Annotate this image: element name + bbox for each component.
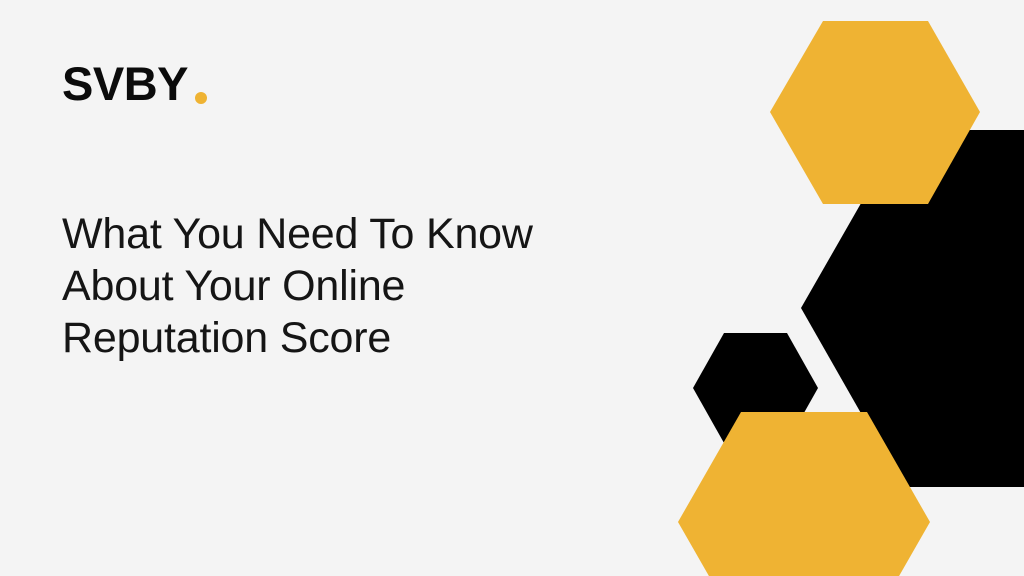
brand-wordmark: SVBY bbox=[62, 60, 188, 107]
brand-logo[interactable]: SVBY bbox=[62, 60, 207, 107]
hexagon-top-amber-icon bbox=[770, 21, 980, 204]
hexagon-small-black-icon bbox=[693, 333, 818, 443]
page-title-line-2: About Your Online bbox=[62, 260, 682, 312]
hexagon-bottom-amber-icon bbox=[678, 412, 930, 576]
brand-dot-icon bbox=[195, 92, 207, 104]
page-title: What You Need To Know About Your Online … bbox=[62, 208, 682, 364]
hexagon-large-black-icon bbox=[801, 130, 1024, 487]
page-title-line-1: What You Need To Know bbox=[62, 208, 682, 260]
page-title-line-3: Reputation Score bbox=[62, 312, 682, 364]
cover-canvas: SVBY What You Need To Know About Your On… bbox=[0, 0, 1024, 576]
